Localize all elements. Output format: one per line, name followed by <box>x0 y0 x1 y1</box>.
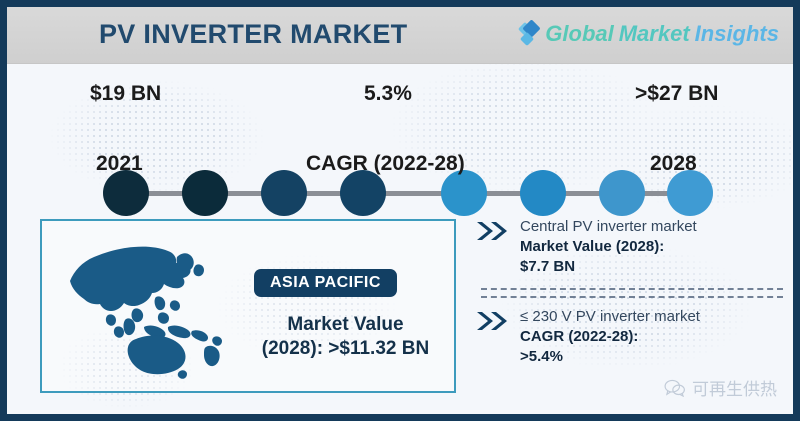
highlight-2-line3: >5.4% <box>520 347 700 367</box>
logo-word-market: Market <box>619 21 690 47</box>
highlight-1-line1: Central PV inverter market <box>520 217 697 237</box>
end-year-label: 2028 <box>650 152 697 176</box>
cagr-value-label: 5.3% <box>364 82 412 106</box>
region-badge: ASIA PACIFIC <box>254 269 397 297</box>
highlight-2-text: ≤ 230 V PV inverter market CAGR (2022-28… <box>520 307 700 367</box>
timeline-node-2 <box>182 170 228 216</box>
highlight-1-line3: $7.7 BN <box>520 257 697 277</box>
market-growth-timeline: $19 BN 5.3% >$27 BN 2021 CAGR (2022-28) … <box>7 67 800 187</box>
double-chevron-icon <box>475 220 511 242</box>
highlight-item-2: ≤ 230 V PV inverter market CAGR (2022-28… <box>475 307 795 367</box>
timeline-node-4 <box>340 170 386 216</box>
page-title: PV INVERTER MARKET <box>99 19 407 50</box>
brand-logo: Global Market Insights <box>520 21 779 47</box>
highlight-1-line2: Market Value (2028): <box>520 237 697 257</box>
timeline-node-8 <box>667 170 713 216</box>
watermark: 可再生供热 <box>664 375 777 400</box>
highlight-2-line2: CAGR (2022-28): <box>520 327 700 347</box>
asia-pacific-map-icon <box>64 235 239 380</box>
start-value-label: $19 BN <box>90 82 161 106</box>
highlight-1-text: Central PV inverter market Market Value … <box>520 217 697 277</box>
double-chevron-icon <box>475 310 511 332</box>
region-value-line1: Market Value <box>287 314 403 335</box>
end-value-label: >$27 BN <box>635 82 718 106</box>
region-market-value: Market Value (2028): >$11.32 BN <box>238 313 453 362</box>
asia-pacific-map <box>64 235 239 380</box>
timeline-node-3 <box>261 170 307 216</box>
highlight-2-line1: ≤ 230 V PV inverter market <box>520 307 700 327</box>
timeline-node-7 <box>599 170 645 216</box>
timeline-node-5 <box>441 170 487 216</box>
timeline-node-6 <box>520 170 566 216</box>
region-value-line2: (2028): >$11.32 BN <box>262 338 429 359</box>
timeline-node-1 <box>103 170 149 216</box>
cagr-period-label: CAGR (2022-28) <box>306 152 465 176</box>
asia-pacific-card: ASIA PACIFIC Market Value (2028): >$11.3… <box>40 219 456 393</box>
highlight-item-1: Central PV inverter market Market Value … <box>475 217 795 277</box>
logo-word-global: Global <box>545 21 613 47</box>
infographic-frame: PV INVERTER MARKET Global Market Insight… <box>0 0 800 421</box>
diamond-icon <box>520 21 540 47</box>
start-year-label: 2021 <box>96 152 143 176</box>
watermark-text: 可再生供热 <box>692 375 777 400</box>
wechat-icon <box>664 379 686 397</box>
logo-word-insights: Insights <box>695 21 779 47</box>
highlights-divider <box>481 288 783 298</box>
highlights-panel: Central PV inverter market Market Value … <box>475 217 795 397</box>
